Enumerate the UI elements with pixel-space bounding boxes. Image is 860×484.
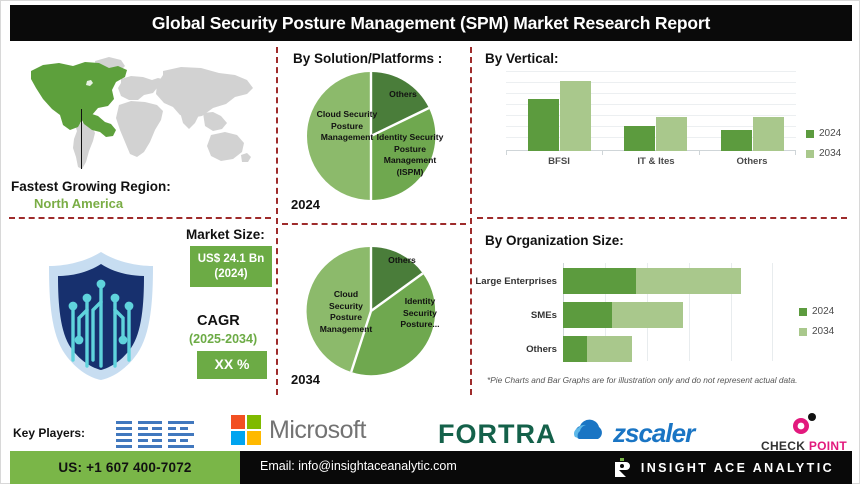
category-label-bfsi: BFSI xyxy=(529,156,589,167)
bar-others-2034 xyxy=(753,117,784,151)
footer-brand-text: INSIGHT ACE ANALYTIC xyxy=(641,461,834,475)
fastest-growing-region-value: North America xyxy=(34,196,123,211)
divider-vertical-right xyxy=(470,47,472,395)
cagr-label: CAGR xyxy=(197,313,240,329)
infographic-page: Global Security Posture Management (SPM)… xyxy=(0,0,860,484)
market-size-label: Market Size: xyxy=(186,227,265,242)
section-title-solution: By Solution/Platforms : xyxy=(293,51,442,66)
divider-horizontal-right xyxy=(477,217,847,219)
bar-group-bfsi xyxy=(528,81,591,151)
section-title-vertical: By Vertical: xyxy=(485,51,559,66)
category-label-others: Others xyxy=(722,156,782,167)
page-title: Global Security Posture Management (SPM)… xyxy=(152,13,710,34)
pie-2024-year: 2024 xyxy=(291,197,320,212)
divider-horizontal-pies xyxy=(282,223,466,225)
category-label-large-enterprises: Large Enterprises xyxy=(447,276,557,287)
checkpoint-mark-icon xyxy=(787,413,821,435)
key-players-label: Key Players: xyxy=(13,426,85,440)
axis-tick xyxy=(795,151,796,155)
chart-footnote: *Pie Charts and Bar Graphs are for illus… xyxy=(487,375,797,385)
header-bar: Global Security Posture Management (SPM)… xyxy=(10,5,852,41)
legend-swatch-org-2024 xyxy=(799,308,807,316)
gridline xyxy=(772,263,773,361)
axis-tick xyxy=(506,151,507,155)
footer-brand: INSIGHT ACE ANALYTIC xyxy=(613,458,834,478)
divider-vertical-left xyxy=(276,47,278,395)
axis-tick xyxy=(602,151,603,155)
fortra-logo: FORTRA xyxy=(438,419,556,450)
legend-swatch-2024 xyxy=(806,130,814,138)
cagr-badge: XX % xyxy=(197,351,267,379)
pie-chart-2034 xyxy=(304,244,438,378)
security-shield-icon xyxy=(35,248,167,382)
bar-it-ites-2034 xyxy=(656,117,687,151)
bar-group-others xyxy=(721,117,784,151)
legend-item-2034: 2034 xyxy=(806,148,841,159)
legend-swatch-org-2034 xyxy=(799,328,807,336)
legend-label-org-2034: 2034 xyxy=(812,326,834,337)
legend-item-org-2034: 2034 xyxy=(799,326,834,337)
market-size-year: (2024) xyxy=(214,267,247,282)
fastest-growing-region-label: Fastest Growing Region: xyxy=(11,179,171,194)
legend-org-chart: 2024 2034 xyxy=(799,306,834,346)
pie-2034-year: 2034 xyxy=(291,372,320,387)
bar-it-ites-2024 xyxy=(624,126,655,151)
legend-swatch-2034 xyxy=(806,150,814,158)
zscaler-cloud-icon xyxy=(569,419,613,449)
segment-smes-2034 xyxy=(612,302,683,328)
zscaler-logo: zscaler xyxy=(569,418,694,449)
segment-others-2024 xyxy=(563,336,587,362)
vertical-bar-chart xyxy=(506,71,796,151)
legend-label-2034: 2034 xyxy=(819,148,841,159)
microsoft-logo: Microsoft xyxy=(231,415,366,445)
cagr-period: (2025-2034) xyxy=(189,332,257,346)
bar-bfsi-2034 xyxy=(560,81,591,151)
cagr-value: XX % xyxy=(214,356,249,374)
bar-group-it-ites xyxy=(624,117,687,151)
axis-tick xyxy=(699,151,700,155)
divider-horizontal-left xyxy=(9,217,271,219)
microsoft-wordmark: Microsoft xyxy=(269,416,366,445)
horizontal-bar-chart xyxy=(563,263,773,361)
gridline xyxy=(506,71,796,72)
pie-chart-2024 xyxy=(304,69,438,203)
segment-smes-2024 xyxy=(563,302,612,328)
stacked-bar-others xyxy=(563,336,632,362)
zscaler-wordmark: zscaler xyxy=(613,418,694,449)
segment-large-enterprises-2034 xyxy=(636,268,741,294)
segment-others-2034 xyxy=(587,336,632,362)
microsoft-squares-icon xyxy=(231,415,261,445)
insightace-logo-icon xyxy=(613,458,631,478)
footer-phone-band[interactable]: US: +1 607 400-7072 xyxy=(10,451,240,484)
footer-black-band: Email: info@insightaceanalytic.com INSIG… xyxy=(240,451,852,484)
footer-phone: US: +1 607 400-7072 xyxy=(58,460,191,475)
checkpoint-logo: CHECK POINT xyxy=(761,413,847,455)
legend-label-org-2024: 2024 xyxy=(812,306,834,317)
category-label-smes: SMEs xyxy=(447,310,557,321)
map-leader-line xyxy=(81,109,82,169)
legend-label-2024: 2024 xyxy=(819,128,841,139)
legend-vertical-chart: 2024 2034 xyxy=(806,128,841,168)
segment-large-enterprises-2024 xyxy=(563,268,636,294)
legend-item-2024: 2024 xyxy=(806,128,841,139)
section-title-org-size: By Organization Size: xyxy=(485,233,624,248)
stacked-bar-smes xyxy=(563,302,683,328)
world-map-icon xyxy=(13,53,265,175)
legend-item-org-2024: 2024 xyxy=(799,306,834,317)
market-size-value: US$ 24.1 Bn xyxy=(198,252,264,267)
category-label-it-ites: IT & Ites xyxy=(626,156,686,167)
category-label-others-org: Others xyxy=(447,344,557,355)
market-size-badge: US$ 24.1 Bn (2024) xyxy=(190,246,272,287)
footer-email[interactable]: Email: info@insightaceanalytic.com xyxy=(260,459,457,473)
bar-others-2024 xyxy=(721,130,752,151)
stacked-bar-large-enterprises xyxy=(563,268,741,294)
bar-bfsi-2024 xyxy=(528,99,559,151)
